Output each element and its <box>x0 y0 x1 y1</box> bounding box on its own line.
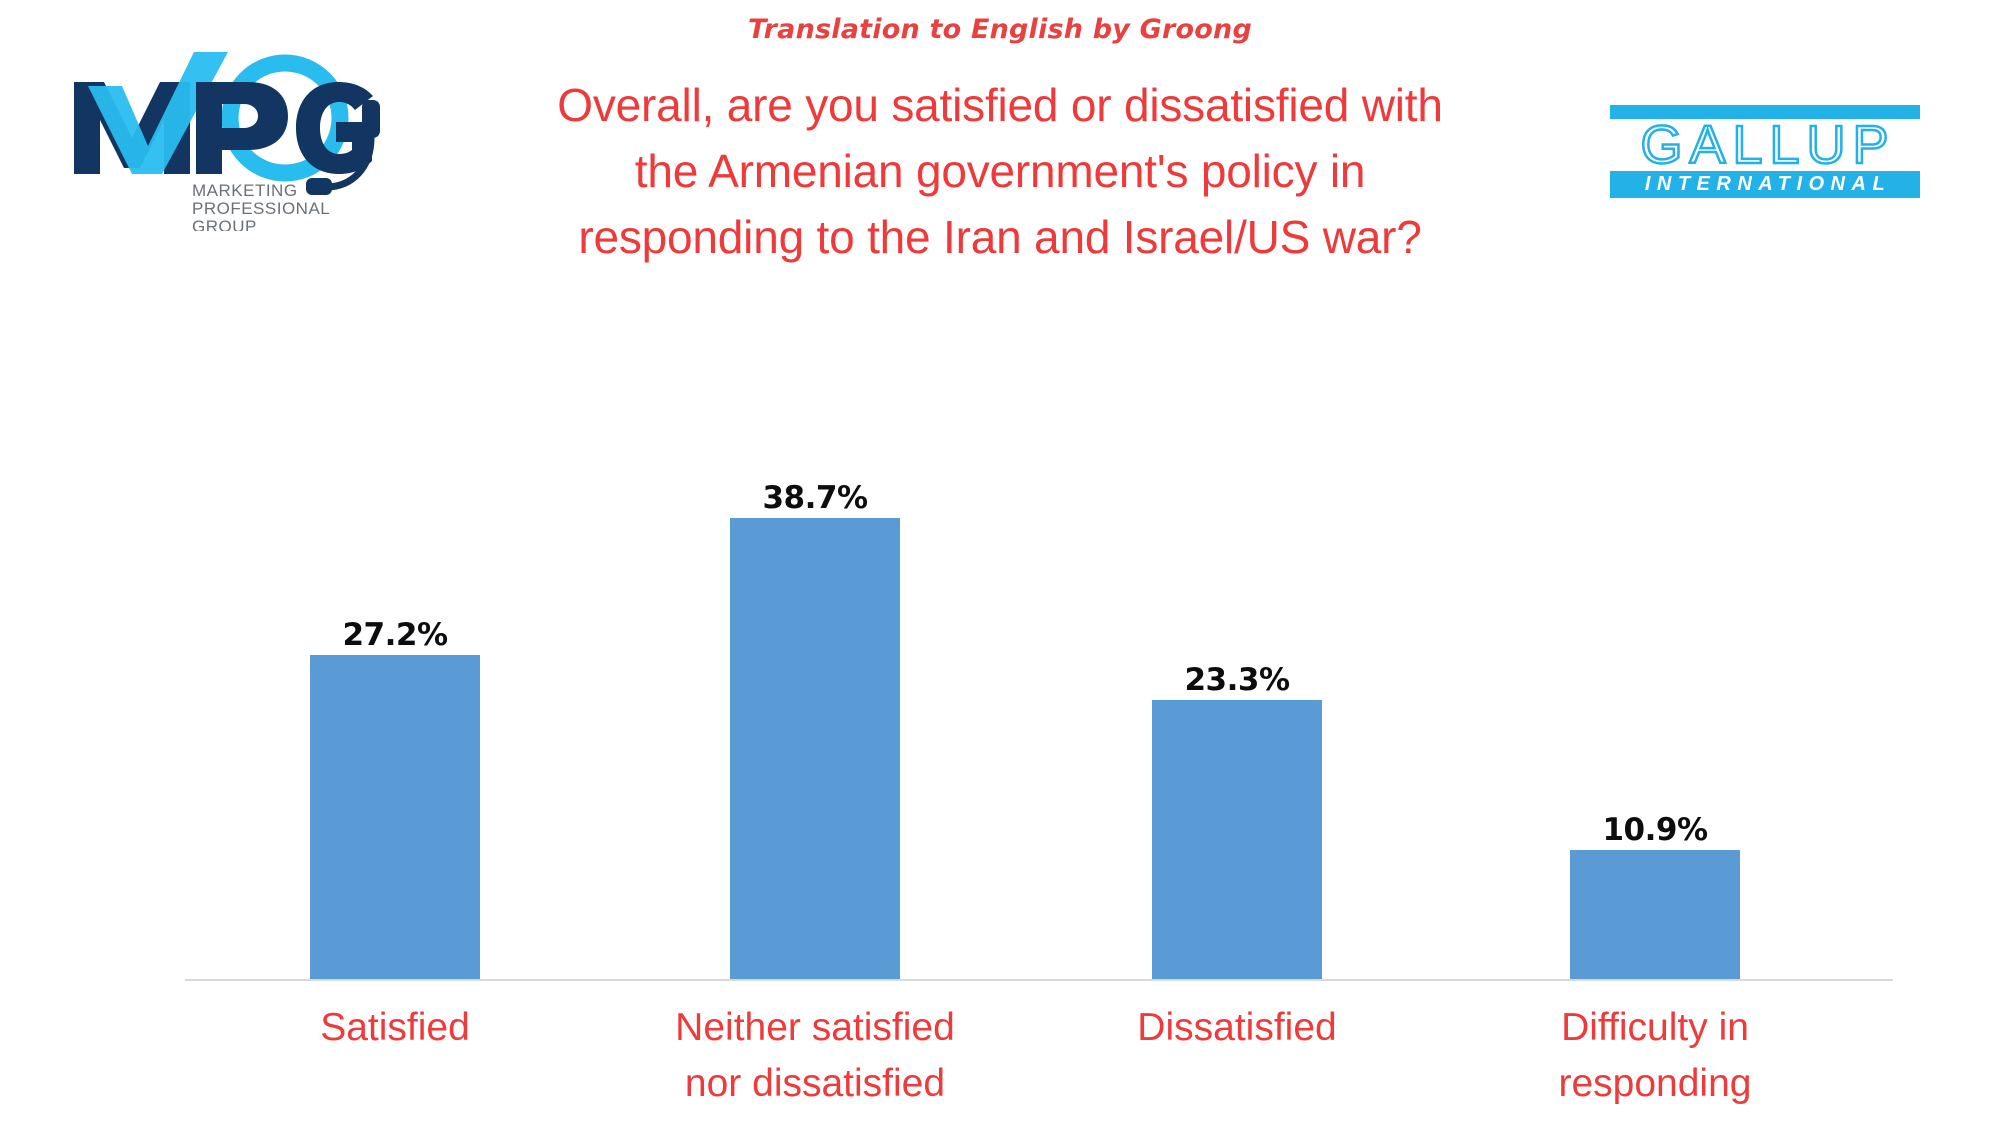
category-label-difficulty-in-responding: Difficulty in responding <box>1495 1000 1815 1112</box>
category-label-line: Satisfied <box>235 1000 555 1056</box>
bar-dissatisfied <box>1152 700 1322 979</box>
bar-chart-plot: 27.2% Satisfied 38.7% Neither satisfied … <box>0 0 2000 1125</box>
category-label-line: Difficulty in <box>1495 1000 1815 1056</box>
category-label-line: Dissatisfied <box>1077 1000 1397 1056</box>
bar-satisfied <box>310 655 480 979</box>
bar-value-difficulty-in-responding: 10.9% <box>1570 812 1740 848</box>
slide-canvas: MARKETING PROFESSIONAL GROUP Translation… <box>0 0 2000 1125</box>
bar-neither-satisfied-nor-dissatisfied <box>730 518 900 979</box>
category-label-dissatisfied: Dissatisfied <box>1077 1000 1397 1056</box>
bar-difficulty-in-responding <box>1570 850 1740 979</box>
category-label-line: Neither satisfied <box>655 1000 975 1056</box>
bar-value-dissatisfied: 23.3% <box>1152 662 1322 698</box>
bar-value-neither-satisfied-nor-dissatisfied: 38.7% <box>730 480 900 516</box>
category-label-satisfied: Satisfied <box>235 1000 555 1056</box>
category-label-line: nor dissatisfied <box>655 1056 975 1112</box>
category-label-line: responding <box>1495 1056 1815 1112</box>
bar-value-satisfied: 27.2% <box>310 617 480 653</box>
x-axis-line <box>185 979 1893 981</box>
category-label-neither-satisfied-nor-dissatisfied: Neither satisfied nor dissatisfied <box>655 1000 975 1112</box>
